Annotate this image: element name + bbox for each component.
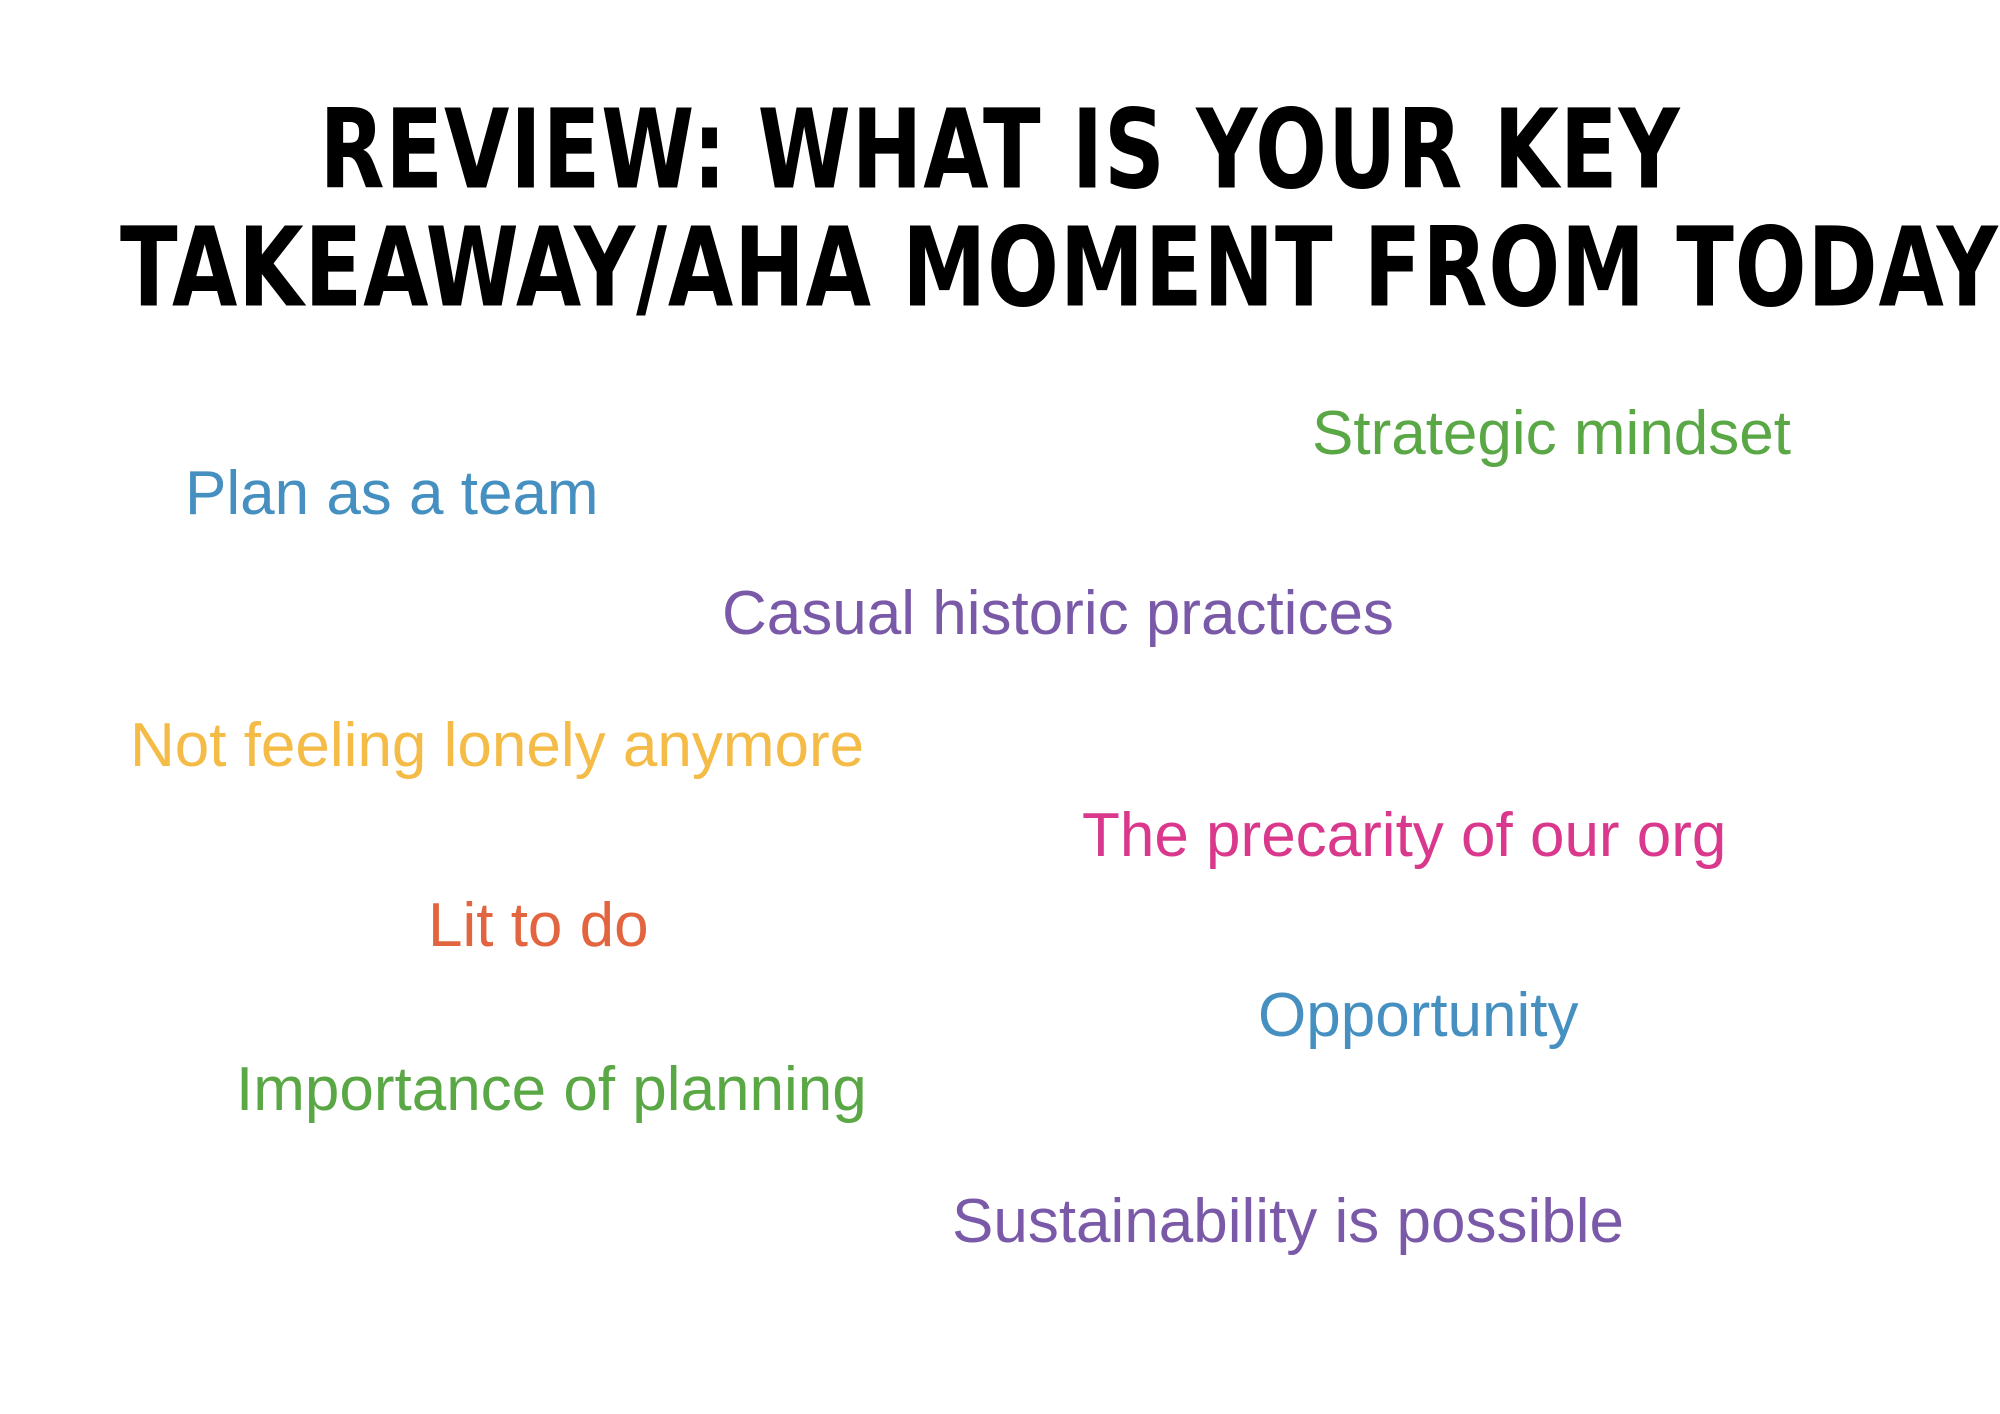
response-item: Not feeling lonely anymore <box>130 712 864 780</box>
response-item: Plan as a team <box>185 460 599 528</box>
page-title: REVIEW: WHAT IS YOUR KEY TAKEAWAY/AHA MO… <box>0 86 2000 316</box>
title-line-2: TAKEAWAY/AHA MOMENT FROM TODAY? <box>120 204 1880 332</box>
response-item: Casual historic practices <box>722 580 1394 648</box>
response-item: The precarity of our org <box>1082 802 1726 870</box>
response-item: Strategic mindset <box>1312 400 1791 468</box>
slide-canvas: REVIEW: WHAT IS YOUR KEY TAKEAWAY/AHA MO… <box>0 0 2000 1414</box>
title-line-1: REVIEW: WHAT IS YOUR KEY <box>120 86 1880 214</box>
response-item: Opportunity <box>1258 982 1579 1050</box>
response-item: Importance of planning <box>236 1056 867 1124</box>
response-item: Lit to do <box>428 892 649 960</box>
response-item: Sustainability is possible <box>952 1188 1624 1256</box>
